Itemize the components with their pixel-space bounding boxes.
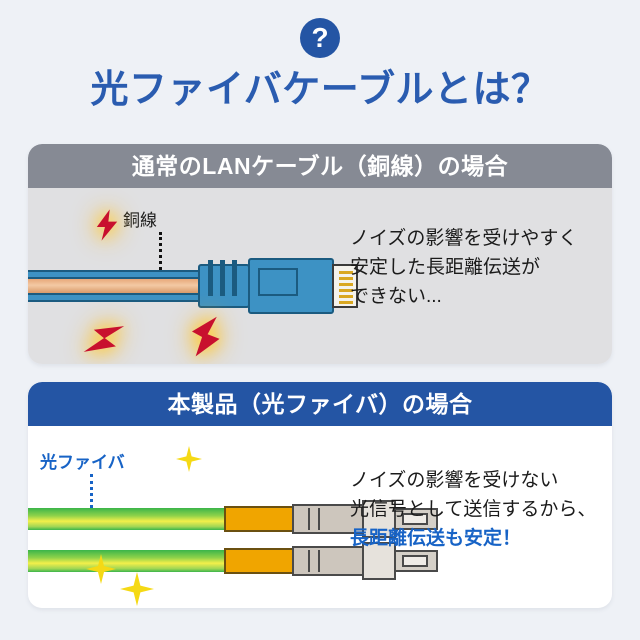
fiber-connector-boot xyxy=(224,506,296,532)
connector-rib xyxy=(220,260,225,296)
connector-rib xyxy=(208,260,213,296)
sparkle-icon xyxy=(120,572,154,606)
connector-ridge xyxy=(308,508,310,530)
page-title: 光ファイバケーブルとは？ xyxy=(0,58,640,113)
sparkle-icon xyxy=(176,446,202,472)
description-line: ノイズの影響を受けやすく xyxy=(350,224,577,253)
connector-ridge xyxy=(308,550,310,572)
panel-fiber-cable: 本製品（光ファイバ）の場合 光ファイバ xyxy=(28,382,612,608)
description-line: ノイズの影響を受けない xyxy=(350,466,596,495)
panel-copper-header: 通常のLANケーブル（銅線）の場合 xyxy=(28,144,612,188)
rj45-connector-illustration xyxy=(198,256,366,316)
panel-fiber-body: 光ファイバ xyxy=(28,426,612,608)
panel-fiber-description: ノイズの影響を受けない 光信号として送信するから、 長距離伝送も安定！ xyxy=(350,466,596,553)
panel-fiber-header: 本製品（光ファイバ）の場合 xyxy=(28,382,612,426)
connector-body xyxy=(248,258,334,314)
panel-copper-cable: 通常のLANケーブル（銅線）の場合 銅線 xyxy=(28,144,612,364)
fiber-connector-boot xyxy=(224,548,296,574)
lightning-bolt-icon xyxy=(80,316,126,362)
connector-ridge xyxy=(318,550,320,572)
callout-label-fiber: 光ファイバ xyxy=(40,448,125,473)
question-mark-icon: ? xyxy=(300,18,340,58)
description-line: 光信号として送信するから、 xyxy=(350,495,596,524)
callout-label-copper-wire: 銅線 xyxy=(123,206,157,231)
connector-latch xyxy=(258,268,298,296)
lightning-bolt-icon xyxy=(180,314,226,360)
cable-copper-core xyxy=(28,279,210,293)
fiber-cable-strand xyxy=(28,550,226,572)
lightning-bolt-icon xyxy=(90,208,124,242)
cable-jacket-top xyxy=(28,270,210,279)
lan-cable-illustration xyxy=(28,270,210,302)
description-highlight: 長距離伝送も安定！ xyxy=(350,524,596,553)
page-header: ? 光ファイバケーブルとは？ xyxy=(0,0,640,130)
connector-ferrule-tip xyxy=(402,555,428,567)
cable-jacket-bottom xyxy=(28,293,210,302)
fiber-cable-strand xyxy=(28,508,226,530)
description-line: 安定した長距離伝送が xyxy=(350,253,577,282)
panel-copper-description: ノイズの影響を受けやすく 安定した長距離伝送が できない... xyxy=(350,224,577,311)
panel-copper-body: 銅線 xyxy=(28,188,612,364)
connector-ridge xyxy=(318,508,320,530)
sparkle-icon xyxy=(86,554,116,584)
description-line: できない... xyxy=(350,282,577,311)
connector-rib xyxy=(232,260,237,296)
